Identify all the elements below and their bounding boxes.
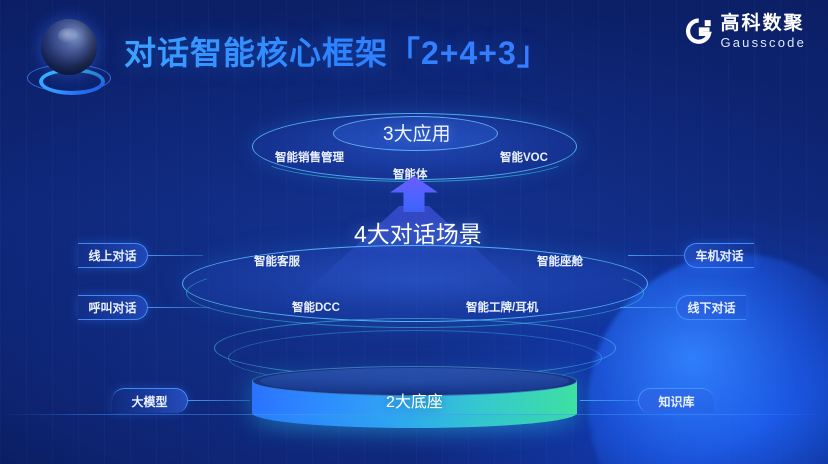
connector-left-bottom <box>148 307 210 308</box>
brand-name-cn: 高科数聚 <box>720 14 806 33</box>
tag-knowledge-base[interactable]: 知识库 <box>638 388 714 413</box>
connector-bottom-right <box>580 400 638 401</box>
sphere-ball <box>41 19 97 75</box>
label-smart-cockpit: 智能座舱 <box>537 253 583 269</box>
gausscode-g-icon <box>686 18 713 45</box>
baseline-divider <box>0 414 828 415</box>
scenarios-title: 4大对话场景 <box>354 215 482 249</box>
brand-logo: 高科数聚 Gausscode <box>686 14 806 49</box>
brand-name-en: Gausscode <box>720 36 806 49</box>
connector-right-top <box>628 255 684 256</box>
slide-canvas: 对话智能核心框架「2+4+3」 高科数聚 Gausscode 3大应用 智能销售… <box>0 0 828 464</box>
label-smart-dcc: 智能DCC <box>292 299 340 315</box>
label-smart-voc: 智能VOC <box>500 149 548 165</box>
label-smart-customer-service: 智能客服 <box>254 253 300 269</box>
brand-text: 高科数聚 Gausscode <box>720 14 806 49</box>
tag-car-machine-dialogue[interactable]: 车机对话 <box>684 243 754 268</box>
connector-bottom-left <box>188 400 250 401</box>
sphere-pedestal-icon <box>24 14 110 100</box>
tag-offline-dialogue[interactable]: 线下对话 <box>676 295 746 320</box>
applications-title: 3大应用 <box>383 119 451 146</box>
label-smart-sales-management: 智能销售管理 <box>275 149 344 165</box>
connector-right-bottom <box>620 307 676 308</box>
tag-call-dialogue[interactable]: 呼叫对话 <box>78 295 148 320</box>
tag-large-model[interactable]: 大模型 <box>112 388 188 413</box>
tag-online-dialogue[interactable]: 线上对话 <box>78 243 148 268</box>
page-title: 对话智能核心框架「2+4+3」 <box>124 28 550 74</box>
foundation-title: 2大底座 <box>386 388 443 412</box>
connector-left-top <box>148 255 203 256</box>
label-smart-badge-headset: 智能工牌/耳机 <box>466 299 538 315</box>
